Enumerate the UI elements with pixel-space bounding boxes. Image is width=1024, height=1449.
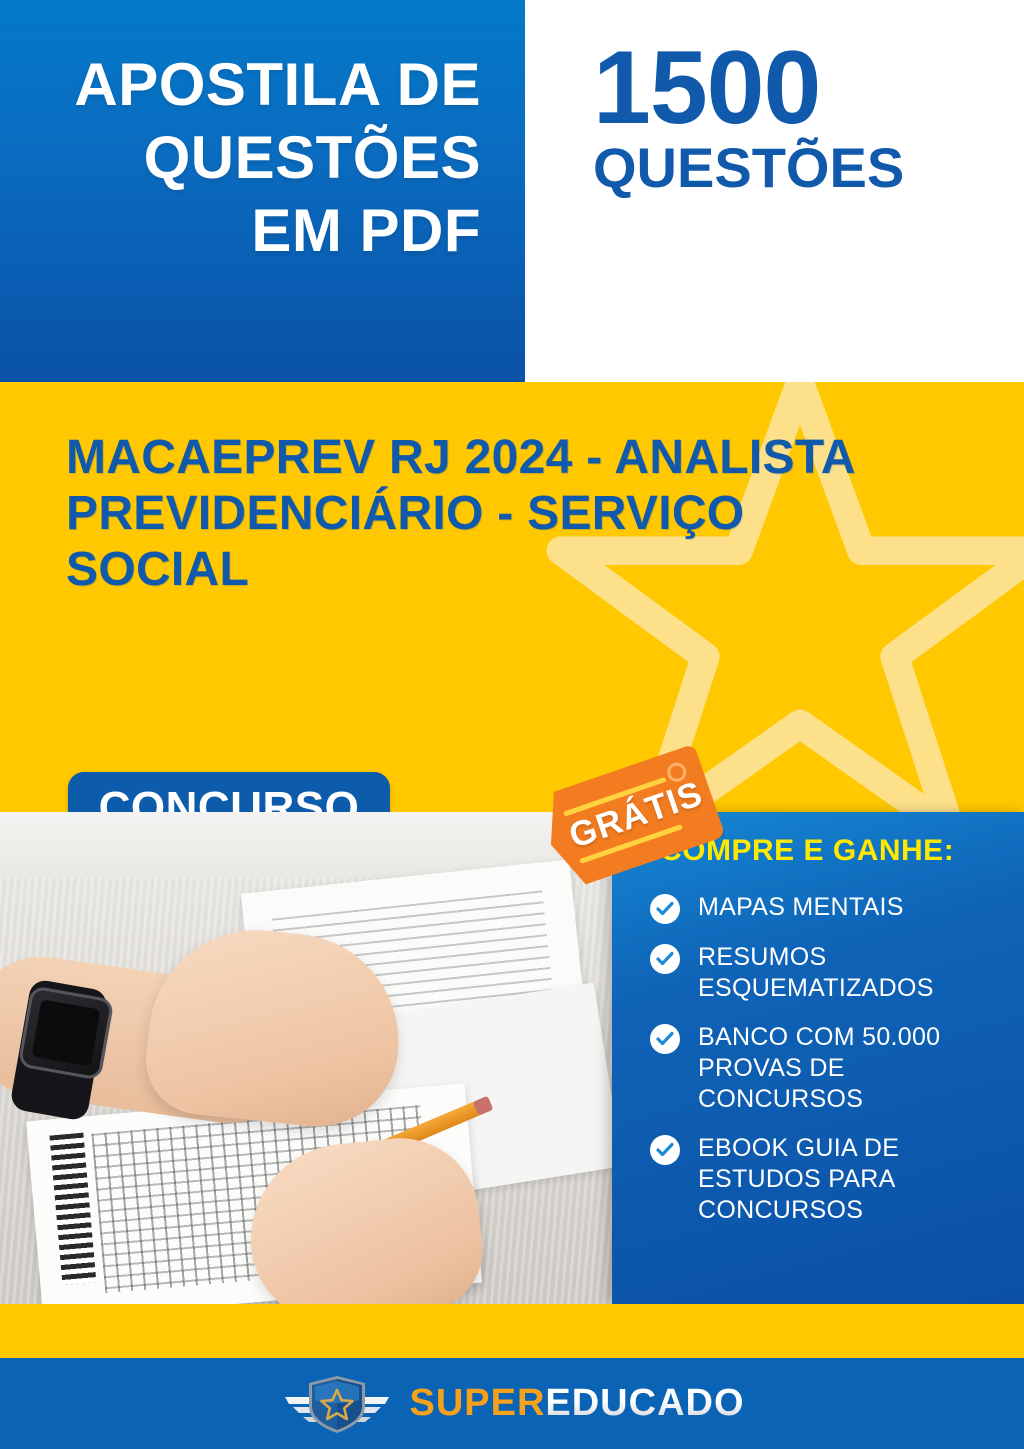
category-button[interactable]: CONCURSO xyxy=(68,772,390,812)
header: APOSTILA DE QUESTÕES EM PDF 1500 QUESTÕE… xyxy=(0,0,1024,382)
question-count-number: 1500 xyxy=(593,36,820,140)
benefit-label: MAPAS MENTAIS xyxy=(698,892,904,923)
list-item: BANCO COM 50.000 PROVAS DE CONCURSOS xyxy=(650,1022,1010,1115)
list-item: EBOOK GUIA DE ESTUDOS PARA CONCURSOS xyxy=(650,1133,1010,1226)
headline-line-1: APOSTILA DE xyxy=(41,48,481,121)
photo-smartwatch-face xyxy=(18,985,115,1080)
header-right-panel: 1500 QUESTÕES PDF CONTEÚDO DE ACORDO COM… xyxy=(525,0,1024,382)
brand-logo-text: SUPEREDUCADO xyxy=(409,1382,744,1425)
benefits-list: MAPAS MENTAIS RESUMOS ESQUEMATIZADOS BAN… xyxy=(650,892,1010,1244)
check-icon xyxy=(650,1135,680,1165)
headline-line-3: EM PDF xyxy=(41,194,481,267)
shield-wings-icon xyxy=(279,1373,395,1435)
header-headline: APOSTILA DE QUESTÕES EM PDF xyxy=(41,48,481,268)
footer-accent-band xyxy=(0,1304,1024,1358)
question-count-label: QUESTÕES xyxy=(593,140,904,196)
header-left-panel: APOSTILA DE QUESTÕES EM PDF xyxy=(0,0,525,382)
poster-root: APOSTILA DE QUESTÕES EM PDF 1500 QUESTÕE… xyxy=(0,0,1024,1449)
benefit-label: EBOOK GUIA DE ESTUDOS PARA CONCURSOS xyxy=(698,1133,1010,1226)
benefit-label: RESUMOS ESQUEMATIZADOS xyxy=(698,942,1010,1004)
check-icon xyxy=(650,894,680,924)
benefit-label: BANCO COM 50.000 PROVAS DE CONCURSOS xyxy=(698,1022,1010,1115)
brand-name-super: SUPER xyxy=(409,1382,545,1424)
brand-logo[interactable]: SUPEREDUCADO xyxy=(0,1358,1024,1449)
title-band: MACAEPREV RJ 2024 - ANALISTA PREVIDENCIÁ… xyxy=(0,382,1024,812)
check-icon xyxy=(650,944,680,974)
exam-photo xyxy=(0,812,612,1304)
list-item: MAPAS MENTAIS xyxy=(650,892,1010,924)
brand-name-educado: EDUCADO xyxy=(545,1382,744,1424)
page-title: MACAEPREV RJ 2024 - ANALISTA PREVIDENCIÁ… xyxy=(66,430,866,598)
check-icon xyxy=(650,1024,680,1054)
benefits-panel: COMPRE E GANHE: MAPAS MENTAIS RESUMOS ES… xyxy=(612,812,1024,1304)
list-item: RESUMOS ESQUEMATIZADOS xyxy=(650,942,1010,1004)
headline-line-2: QUESTÕES xyxy=(41,121,481,194)
